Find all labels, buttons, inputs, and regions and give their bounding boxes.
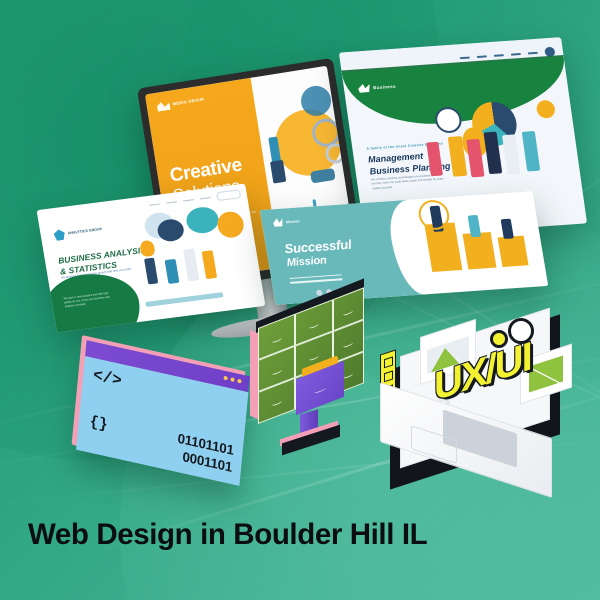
person-figure	[522, 131, 541, 172]
window-controls[interactable]	[223, 376, 241, 384]
person-figure	[501, 219, 514, 239]
badge-text: We work in real solutions and offer high…	[63, 291, 117, 310]
successful-mission-card: Mission Successful Mission	[260, 191, 548, 305]
logo-text: Mission	[286, 219, 300, 224]
file-cabinet-monitor	[256, 326, 366, 444]
person-figure	[502, 134, 521, 175]
badge-text-wrap: We work in real solutions and offer high…	[63, 291, 117, 310]
person-figure	[310, 168, 336, 184]
logo-text: MEDIA GROUP	[173, 98, 205, 107]
page-title: Web Design in Boulder Hill IL	[28, 518, 427, 552]
logo-mark-icon	[53, 229, 66, 241]
drawer-handle-icon	[314, 386, 326, 395]
lightbulb-icon	[139, 240, 156, 258]
ux-ui-laptop: UX/UI	[384, 318, 570, 478]
coin-icon	[536, 100, 557, 119]
brand-logo: Mission	[272, 216, 300, 227]
gear-bubble-icon	[216, 210, 246, 239]
person-figure	[202, 250, 218, 279]
person-figure	[144, 258, 158, 285]
brand-logo: MEDIA GROUP	[156, 95, 205, 111]
mission-heading: Successful Mission	[283, 238, 354, 269]
code-tag-icon: </>	[92, 366, 122, 390]
logo-text: Business	[373, 83, 396, 90]
curly-brace-icon: {}	[89, 413, 108, 434]
search-icon[interactable]	[216, 189, 241, 201]
binary-text: 01101101 0001101	[175, 431, 234, 476]
podium-block	[462, 232, 496, 269]
logo-mark-icon	[272, 218, 284, 228]
logo-text: ANALYTICS GROUP	[68, 227, 103, 236]
logo-mark-icon	[156, 101, 170, 112]
business-analysis-landing-card: ANALYTICS GROUP BUSINESS ANALYSIS & STAT…	[37, 183, 266, 332]
table-illustration	[145, 292, 223, 307]
person-figure	[165, 259, 180, 284]
speech-bubble-icon	[184, 205, 220, 235]
logo-mark-icon	[357, 83, 370, 94]
person-figure	[183, 248, 199, 281]
poster-canvas: MEDIA GROUP Creative Solutions Digital D…	[0, 0, 600, 600]
podium-block	[498, 236, 529, 267]
brand-logo: ANALYTICS GROUP	[53, 224, 103, 241]
